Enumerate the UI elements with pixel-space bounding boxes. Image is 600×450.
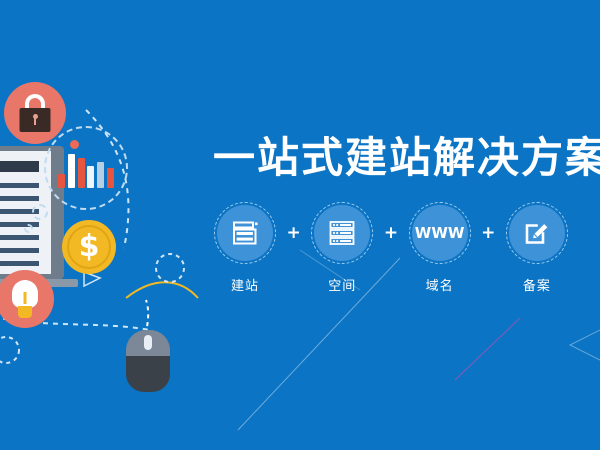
- hero-illustration: $: [0, 62, 204, 392]
- document-text-line: [0, 222, 39, 227]
- document-text-line: [0, 248, 39, 253]
- feature-item-filing[interactable]: 备案: [504, 205, 570, 294]
- speech-bubble-tail: [24, 224, 33, 233]
- document-text-line: [0, 261, 39, 266]
- lock-keyhole: [33, 114, 38, 119]
- chart-bar: [68, 154, 75, 188]
- feature-label: 备案: [523, 275, 551, 294]
- bulb-filament: [24, 292, 27, 304]
- computer-mouse-icon: [126, 330, 170, 392]
- mouse-top-shell: [126, 330, 170, 356]
- feature-icon-circle[interactable]: WWW: [412, 205, 468, 261]
- feature-label: 空间: [328, 275, 356, 294]
- webpage-document-icon: [231, 219, 259, 247]
- lock-icon: [4, 82, 66, 144]
- chart-bar: [107, 168, 114, 188]
- feature-item-hosting[interactable]: 空间: [309, 205, 375, 294]
- mouse-bottom-shell: [126, 356, 170, 392]
- plus-separator: +: [481, 205, 495, 261]
- edit-pencil-square-icon: [523, 219, 551, 247]
- banner-canvas: $ 一站式建站解决方案: [0, 0, 600, 450]
- server-rack-icon: [328, 219, 356, 247]
- document-text-line: [0, 196, 39, 201]
- lock-body: [20, 108, 51, 132]
- mouse-scroll-wheel: [144, 335, 152, 350]
- bar-chart: [58, 148, 114, 188]
- lightbulb-icon: [0, 270, 54, 328]
- chart-bar: [87, 166, 94, 188]
- feature-list: 建站 + 空间 + WWW: [212, 205, 570, 294]
- chart-bar: [78, 158, 85, 188]
- page-title: 一站式建站解决方案: [213, 136, 583, 180]
- bulb-base: [18, 306, 32, 318]
- plus-separator: +: [287, 205, 301, 261]
- dollar-coin-icon: $: [62, 220, 116, 274]
- plus-separator: +: [384, 205, 398, 261]
- dollar-sign: $: [62, 220, 116, 274]
- feature-label: 建站: [231, 275, 259, 294]
- feature-icon-circle[interactable]: [314, 205, 370, 261]
- document-text-line: [0, 235, 39, 240]
- bar-chart-bubble-icon: [44, 126, 128, 210]
- feature-item-domain[interactable]: WWW 域名: [407, 205, 473, 294]
- document-text-line: [0, 183, 39, 188]
- chart-bar: [58, 174, 65, 188]
- feature-label: 域名: [426, 275, 454, 294]
- feature-icon-circle[interactable]: [217, 205, 273, 261]
- document-header-bar: [0, 161, 39, 172]
- feature-icon-circle[interactable]: [509, 205, 565, 261]
- www-text-icon: WWW: [415, 224, 465, 242]
- speech-bubble-tail: [32, 204, 48, 220]
- feature-item-website[interactable]: 建站: [212, 205, 278, 294]
- chart-bar: [97, 162, 104, 188]
